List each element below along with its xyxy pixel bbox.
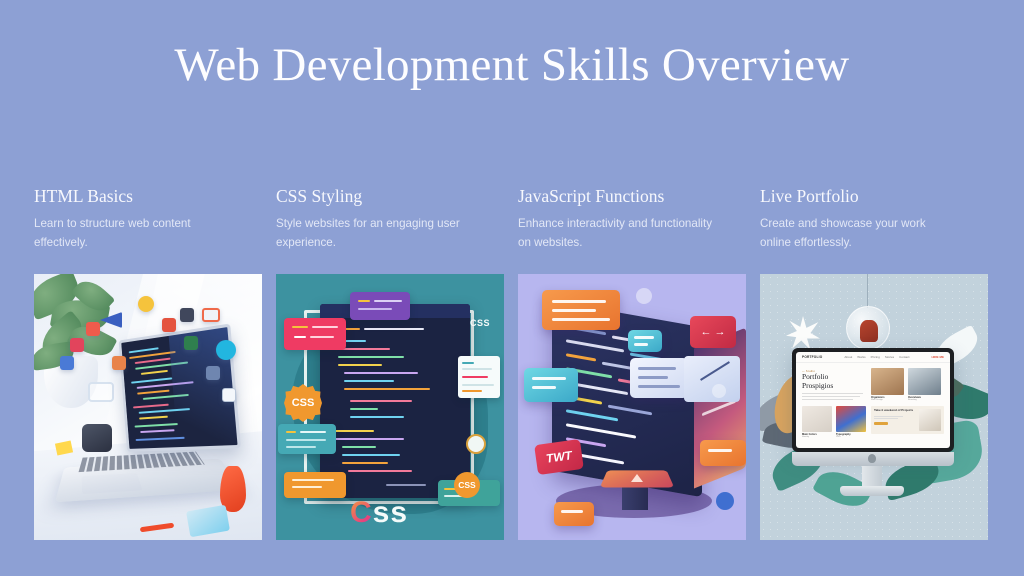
mockup-paragraph [802, 393, 866, 399]
arrow-bubble-red: ← → [690, 316, 736, 348]
app-icon [206, 366, 220, 380]
css-label-top: CSS [470, 318, 490, 328]
decorative-dot [636, 288, 652, 304]
mockup-nav-link: Stories [885, 355, 894, 359]
mockup-title-line-2: Prospigios [802, 382, 866, 391]
mockup-thumb [908, 368, 941, 395]
skill-description-portfolio: Create and showcase your work online eff… [760, 214, 956, 252]
decorative-dot [712, 384, 726, 398]
app-icon [60, 356, 74, 370]
mockup-logo: PORTFOLIO [802, 355, 822, 359]
play-triangle-icon [631, 474, 643, 482]
skill-column-css: CSS Styling Style websites for an engagi… [276, 186, 504, 252]
app-icon [222, 388, 236, 402]
terrarium-plant [860, 320, 878, 342]
app-icon [112, 356, 126, 370]
skill-heading-html: HTML Basics [34, 186, 262, 207]
app-icon [184, 336, 198, 350]
skill-heading-portfolio: Live Portfolio [760, 186, 988, 207]
skill-heading-css: CSS Styling [276, 186, 504, 207]
mockup-promo-thumb [919, 409, 941, 431]
mockup-navbar: PORTFOLIO About Works Pricing Stories Co… [796, 352, 950, 363]
apple-logo-icon [868, 454, 876, 463]
imac-display: PORTFOLIO About Works Pricing Stories Co… [792, 348, 954, 452]
portfolio-website-mockup: PORTFOLIO About Works Pricing Stories Co… [796, 352, 950, 448]
skill-description-css: Style websites for an engaging user expe… [276, 214, 472, 252]
workspace-laptop-illustration [34, 274, 262, 540]
mockup-nav-link: Pricing [871, 355, 880, 359]
mockup-thumb-meta: Print [836, 436, 866, 438]
mockup-nav-link: About [844, 355, 852, 359]
chat-bubble-small-cyan [628, 330, 662, 352]
page-title: Web Development Skills Overview [0, 40, 1024, 92]
mockup-thumb-meta: Branding [908, 399, 941, 401]
portfolio-imac-mockup: PORTFOLIO About Works Pricing Stories Co… [760, 274, 988, 540]
app-icon [86, 322, 100, 336]
mockup-nav-link: Works [857, 355, 865, 359]
mockup-thumb [802, 406, 832, 432]
skill-column-portfolio: Live Portfolio Create and showcase your … [760, 186, 988, 252]
chat-bubble-orange-right [700, 440, 746, 466]
chat-bubble-purple [350, 292, 410, 320]
app-icon-mail [202, 308, 220, 322]
app-icon-sun [138, 296, 154, 312]
skill-description-javascript: Enhance interactivity and functionality … [518, 214, 714, 252]
skills-columns: HTML Basics Learn to structure web conte… [34, 186, 990, 252]
imac-stand-foot [840, 486, 904, 496]
chat-bubble-orange-large [542, 290, 620, 330]
mockup-promo-heading: Take it weekend of Projects [874, 409, 916, 413]
chat-bubble-orange-bottom [554, 502, 594, 526]
app-icon [70, 338, 84, 352]
app-icon-globe [216, 340, 236, 360]
mockup-cta: HIRE ME [931, 355, 944, 359]
skill-images: CSS CSS CSS Css [34, 274, 990, 540]
skill-column-html: HTML Basics Learn to structure web conte… [34, 186, 262, 252]
chat-bubble-icon [88, 382, 114, 402]
mockup-thumb [836, 406, 866, 432]
mockup-promo-card: Take it weekend of Projects [871, 406, 944, 434]
globe-icon [716, 492, 734, 510]
chat-bubble-teal [278, 424, 336, 454]
ui-list-panel [458, 356, 500, 398]
skill-heading-javascript: JavaScript Functions [518, 186, 746, 207]
smart-speaker [82, 424, 112, 452]
mockup-thumb [871, 368, 904, 395]
css-styling-illustration: CSS CSS CSS Css [276, 274, 504, 540]
skill-description-html: Learn to structure web content effective… [34, 214, 230, 252]
imac-stand-neck [862, 466, 882, 488]
chat-bubble-orange [284, 472, 346, 498]
mockup-body: — Studio Portfolio Prospigios Main Color… [796, 363, 950, 442]
hanging-cord [867, 274, 868, 308]
skill-column-javascript: JavaScript Functions Enhance interactivi… [518, 186, 746, 252]
javascript-interactivity-illustration: ← → TWT [518, 274, 746, 540]
chat-bubble-white [630, 358, 688, 398]
app-icon [180, 308, 194, 322]
chat-bubble-pink [284, 318, 346, 350]
css-badge-circle: CSS [454, 472, 480, 498]
chat-bubble-cyan [524, 368, 578, 402]
mockup-nav-links: About Works Pricing Stories Contact [844, 355, 909, 359]
chart-card [684, 356, 740, 402]
mockup-nav-link: Contact [899, 355, 909, 359]
lightbulb-icon [466, 434, 486, 454]
mockup-thumb-meta: Web Design [871, 399, 904, 401]
css-wordmark: Css [350, 496, 408, 530]
twt-badge: TWT [534, 439, 584, 475]
mockup-thumb-meta: Identity [802, 436, 832, 438]
app-icon [162, 318, 176, 332]
